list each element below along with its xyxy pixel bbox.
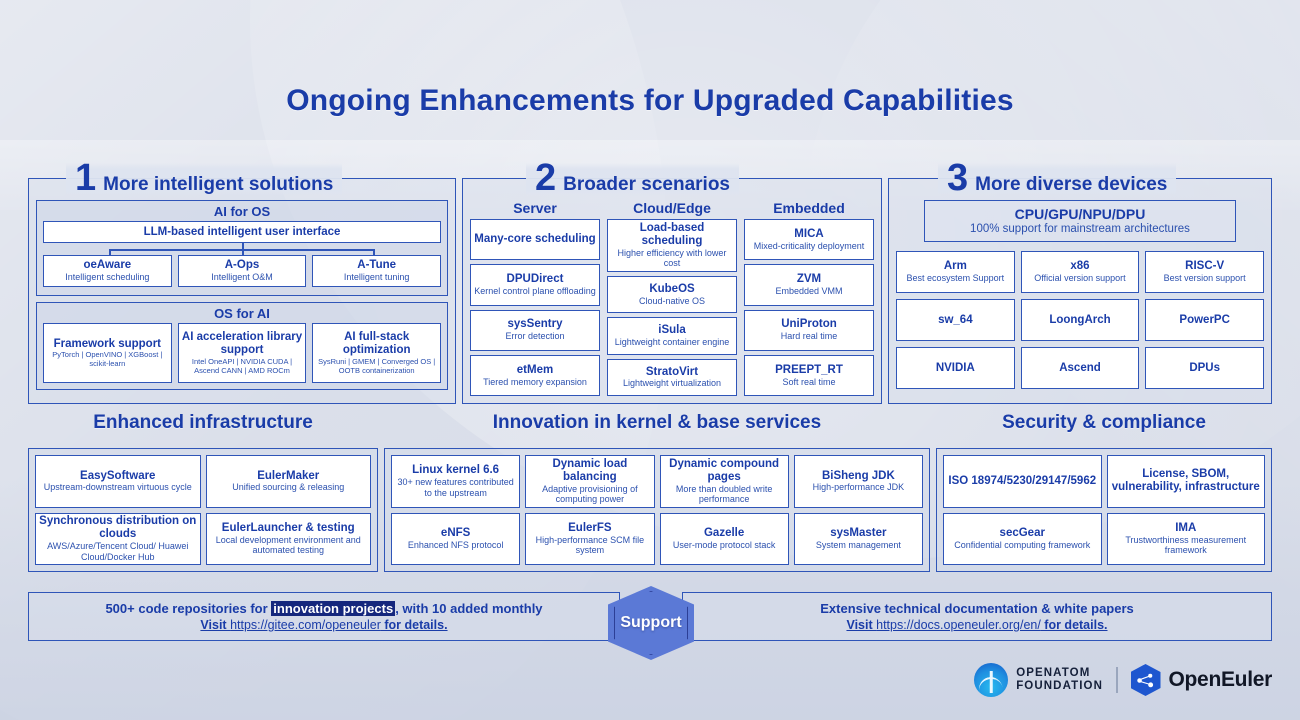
openeuler-logo: OpenEuler [1131,664,1273,696]
column-cloud-edge-head: Cloud/Edge [607,200,737,219]
support-box-repositories: 500+ code repositories for innovation pr… [28,592,620,641]
repositories-headline-pre: 500+ code repositories for [105,601,271,616]
card-title: Linux kernel 6.6 [412,464,499,477]
card-syssentry[interactable]: sysSentry Error detection [470,310,600,351]
card-sysmaster[interactable]: sysMaster System management [794,513,923,566]
card-dynamic-load-balancing[interactable]: Dynamic load balancing Adaptive provisio… [525,455,654,508]
panel-2-number: 2 [535,163,556,194]
card-title: IMA [1175,522,1196,535]
panel-2-body: Server Many-core scheduling DPUDirect Ke… [470,200,874,396]
card-linux-kernel-66[interactable]: Linux kernel 6.6 30+ new features contri… [391,455,520,508]
card-subtitle: 30+ new features contributed to the upst… [395,477,516,498]
connector-drop-right [373,249,375,255]
panel-1-title: More intelligent solutions [103,174,333,196]
card-title: PowerPC [1179,314,1230,327]
card-title: etMem [517,364,553,377]
card-title: Dynamic load balancing [529,458,650,484]
card-gazelle[interactable]: Gazelle User-mode protocol stack [660,513,789,566]
card-subtitle: High-performance JDK [813,482,905,492]
card-subtitle: Official version support [1034,273,1125,283]
documentation-headline: Extensive technical documentation & whit… [820,601,1134,616]
openeuler-hex-icon [1131,664,1161,696]
card-title: sysMaster [830,527,886,540]
card-title: PREEPT_RT [775,364,843,377]
top-panels-row: 1 More intelligent solutions AI for OS L… [0,178,1300,404]
card-title: secGear [1000,527,1045,540]
card-arm[interactable]: Arm Best ecosystem Support [896,251,1015,293]
card-title: DPUDirect [507,273,564,286]
card-powerpc[interactable]: PowerPC [1145,299,1264,341]
card-subtitle: Intelligent tuning [344,272,410,282]
card-title: ZVM [797,273,821,286]
tree-connector [43,243,441,255]
card-subtitle: Mixed-criticality deployment [754,241,865,251]
card-uniproton[interactable]: UniProton Hard real time [744,310,874,351]
card-subtitle: Intel OneAPI | NVIDIA CUDA | Ascend CANN… [182,357,303,375]
card-many-core-scheduling[interactable]: Many-core scheduling [470,219,600,260]
card-synchronous-distribution-on-clouds[interactable]: Synchronous distribution on clouds AWS/A… [35,513,201,566]
card-subtitle: AWS/Azure/Tencent Cloud/ Huawei Cloud/Do… [39,541,197,562]
card-subtitle: Hard real time [781,331,838,341]
card-dynamic-compound-pages[interactable]: Dynamic compound pages More than doubled… [660,455,789,508]
card-subtitle: Error detection [505,331,564,341]
card-title: LoongArch [1049,314,1110,327]
card-subtitle: Adaptive provisioning of computing power [529,484,650,505]
card-title: Framework support [54,338,161,351]
card-subtitle: Lightweight container engine [615,337,730,347]
group-os-for-ai-title: OS for AI [37,303,447,323]
card-eulerlauncher-testing[interactable]: EulerLauncher & testing Local developmen… [206,513,372,566]
card-title: AI acceleration library support [182,331,303,357]
card-title: sysSentry [508,318,563,331]
openatom-foundation-logo: OPENATOM FOUNDATION [974,663,1103,697]
card-eulermaker[interactable]: EulerMaker Unified sourcing & releasing [206,455,372,508]
card-title: KubeOS [649,283,694,296]
innovation-kernel-grid: Linux kernel 6.6 30+ new features contri… [391,455,923,565]
card-title: Ascend [1059,362,1101,375]
card-title: iSula [658,324,685,337]
card-enfs[interactable]: eNFS Enhanced NFS protocol [391,513,520,566]
device-grid: Arm Best ecosystem Support x86 Official … [896,251,1264,389]
card-title: sw_64 [938,314,973,327]
card-load-based-scheduling[interactable]: Load-based scheduling Higher efficiency … [607,219,737,272]
card-title: DPUs [1189,362,1220,375]
panel-2-header: 2 Broader scenarios [526,163,739,196]
card-subtitle: High-performance SCM file system [529,535,650,556]
card-title: EulerLauncher & testing [222,522,355,535]
security-compliance-grid: ISO 18974/5230/29147/5962 License, SBOM,… [943,455,1265,565]
card-mica[interactable]: MICA Mixed-criticality deployment [744,219,874,260]
column-server-head: Server [470,200,600,219]
card-easysoftware[interactable]: EasySoftware Upstream-downstream virtuou… [35,455,201,508]
card-title: x86 [1070,260,1089,273]
ai-for-os-cards: oeAware Intelligent scheduling A-Ops Int… [43,255,441,287]
card-subtitle: Best ecosystem Support [907,273,1005,283]
section-title-innovation-kernel: Innovation in kernel & base services [384,412,930,434]
column-embedded: Embedded MICA Mixed-criticality deployme… [744,200,874,396]
card-title: Many-core scheduling [474,233,595,246]
card-ascend[interactable]: Ascend [1021,347,1140,389]
section-title-enhanced-infrastructure: Enhanced infrastructure [28,412,378,434]
card-title: StratoVirt [646,366,698,379]
card-a-ops[interactable]: A-Ops Intelligent O&M [178,255,307,287]
card-subtitle: Trustworthiness measurement framework [1111,535,1262,556]
panel-1-body: AI for OS LLM-based intelligent user int… [36,200,448,396]
openatom-wordmark: OPENATOM FOUNDATION [1016,667,1103,693]
for-details-label: for details. [381,618,448,632]
repositories-headline-post: , with 10 added monthly [395,601,542,616]
card-sw-64[interactable]: sw_64 [896,299,1015,341]
card-ai-full-stack-optimization[interactable]: AI full-stack optimization SysRuni | GME… [312,323,441,383]
card-subtitle: Unified sourcing & releasing [232,482,344,492]
card-title: ISO 18974/5230/29147/5962 [948,475,1096,488]
card-ima[interactable]: IMA Trustworthiness measurement framewor… [1107,513,1266,566]
card-subtitle: Soft real time [782,377,835,387]
card-subtitle: Confidential computing framework [954,540,1090,550]
card-subtitle: Cloud-native OS [639,296,705,306]
card-dpus[interactable]: DPUs [1145,347,1264,389]
card-bisheng-jdk[interactable]: BiSheng JDK High-performance JDK [794,455,923,508]
card-nvidia[interactable]: NVIDIA [896,347,1015,389]
card-title: NVIDIA [936,362,975,375]
card-title: EasySoftware [80,470,155,483]
card-title: RISC-V [1185,260,1224,273]
card-etmem[interactable]: etMem Tiered memory expansion [470,355,600,396]
card-loongarch[interactable]: LoongArch [1021,299,1140,341]
card-a-tune[interactable]: A-Tune Intelligent tuning [312,255,441,287]
openatom-line2: FOUNDATION [1016,680,1103,693]
card-title: UniProton [781,318,837,331]
column-embedded-head: Embedded [744,200,874,219]
card-preept-rt[interactable]: PREEPT_RT Soft real time [744,355,874,396]
support-row: 500+ code repositories for innovation pr… [0,592,1300,664]
card-ai-acceleration-library-support[interactable]: AI acceleration library support Intel On… [178,323,307,383]
card-title: eNFS [441,527,470,540]
card-license-sbom-vulnerability[interactable]: License, SBOM, vulnerability, infrastruc… [1107,455,1266,508]
banner-title: CPU/GPU/NPU/DPU [929,206,1231,222]
group-os-for-ai: OS for AI Framework support PyTorch | Op… [36,302,448,390]
enhanced-infrastructure-grid: EasySoftware Upstream-downstream virtuou… [35,455,371,565]
card-title: A-Ops [225,259,260,272]
card-iso-standards[interactable]: ISO 18974/5230/29147/5962 [943,455,1102,508]
footer-logos: OPENATOM FOUNDATION OpenEuler [974,663,1272,697]
cpu-gpu-npu-dpu-banner[interactable]: CPU/GPU/NPU/DPU 100% support for mainstr… [924,200,1236,242]
panel-enhanced-infrastructure: EasySoftware Upstream-downstream virtuou… [28,448,378,572]
documentation-visit-line: Visit https://docs.openeuler.org/en/ for… [846,618,1107,632]
card-subtitle: PyTorch | OpenVINO | XGBoost | scikit-le… [47,350,168,368]
innovation-projects-highlight[interactable]: innovation projects [271,601,395,616]
connector-horizontal [109,249,375,251]
middle-sections-row: Enhanced infrastructure EasySoftware Ups… [0,412,1300,584]
column-cloud-edge: Cloud/Edge Load-based scheduling Higher … [607,200,737,396]
banner-subtitle: 100% support for mainstream architecture… [929,223,1231,235]
card-framework-support[interactable]: Framework support PyTorch | OpenVINO | X… [43,323,172,383]
card-title: Gazelle [704,527,744,540]
card-title: License, SBOM, vulnerability, infrastruc… [1111,468,1262,494]
card-title: EulerMaker [257,470,319,483]
panel-2-title: Broader scenarios [563,174,730,196]
column-server: Server Many-core scheduling DPUDirect Ke… [470,200,600,396]
card-subtitle: System management [816,540,901,550]
card-oeaware[interactable]: oeAware Intelligent scheduling [43,255,172,287]
card-title: BiSheng JDK [822,470,895,483]
openatom-line1: OPENATOM [1016,667,1103,680]
card-subtitle: Embedded VMM [775,286,842,296]
panel-innovation-kernel: Linux kernel 6.6 30+ new features contri… [384,448,930,572]
card-secgear[interactable]: secGear Confidential computing framework [943,513,1102,566]
card-title: AI full-stack optimization [316,331,437,357]
section-title-security-compliance: Security & compliance [936,412,1272,434]
panel-3-header: 3 More diverse devices [938,163,1176,196]
llm-user-interface-bar[interactable]: LLM-based intelligent user interface [43,221,441,243]
card-subtitle: Lightweight virtualization [623,378,721,388]
connector-drop-left [109,249,111,255]
logo-divider [1116,667,1118,693]
os-for-ai-cards: Framework support PyTorch | OpenVINO | X… [43,323,441,383]
card-subtitle: SysRuni | GMEM | Converged OS | OOTB con… [316,357,437,375]
card-title: Dynamic compound pages [664,458,785,484]
repositories-headline: 500+ code repositories for innovation pr… [105,601,542,616]
card-title: Synchronous distribution on clouds [39,515,197,541]
panel-security-compliance: ISO 18974/5230/29147/5962 License, SBOM,… [936,448,1272,572]
card-dpudirect[interactable]: DPUDirect Kernel control plane offloadin… [470,264,600,305]
card-title: Arm [944,260,967,273]
gitee-link[interactable]: https://gitee.com/openeuler [230,618,381,632]
repositories-visit-line: Visit https://gitee.com/openeuler for de… [200,618,447,632]
card-subtitle: Higher efficiency with lower cost [611,248,733,269]
group-ai-for-os: AI for OS LLM-based intelligent user int… [36,200,448,296]
card-subtitle: Upstream-downstream virtuous cycle [44,482,192,492]
card-subtitle: Intelligent O&M [211,272,273,282]
visit-label: Visit [846,618,876,632]
openeuler-node-glyph [1136,671,1155,690]
panel-more-diverse-devices: 3 More diverse devices CPU/GPU/NPU/DPU 1… [888,178,1272,404]
panel-broader-scenarios: 2 Broader scenarios Server Many-core sch… [462,178,882,404]
card-title: A-Tune [357,259,396,272]
panel-1-number: 1 [75,163,96,194]
panel-3-number: 3 [947,163,968,194]
support-badge-label: Support [620,614,681,632]
card-subtitle: More than doubled write performance [664,484,785,505]
card-subtitle: Kernel control plane offloading [474,286,595,296]
card-subtitle: User-mode protocol stack [673,540,776,550]
card-eulerfs[interactable]: EulerFS High-performance SCM file system [525,513,654,566]
openeuler-wordmark: OpenEuler [1169,668,1273,692]
card-stratovirt[interactable]: StratoVirt Lightweight virtualization [607,359,737,396]
card-x86[interactable]: x86 Official version support [1021,251,1140,293]
card-subtitle: Enhanced NFS protocol [408,540,504,550]
panel-1-header: 1 More intelligent solutions [66,163,342,196]
visit-label: Visit [200,618,230,632]
card-title: MICA [794,228,823,241]
card-kubeos[interactable]: KubeOS Cloud-native OS [607,276,737,313]
panel-3-body: CPU/GPU/NPU/DPU 100% support for mainstr… [896,200,1264,396]
support-box-documentation: Extensive technical documentation & whit… [682,592,1272,641]
panel-3-title: More diverse devices [975,174,1167,196]
docs-link[interactable]: https://docs.openeuler.org/en/ [876,618,1041,632]
card-isula[interactable]: iSula Lightweight container engine [607,317,737,354]
for-details-label: for details. [1041,618,1108,632]
page-title: Ongoing Enhancements for Upgraded Capabi… [0,84,1300,118]
card-title: EulerFS [568,522,611,535]
card-risc-v[interactable]: RISC-V Best version support [1145,251,1264,293]
openatom-icon [974,663,1008,697]
card-subtitle: Intelligent scheduling [65,272,149,282]
card-subtitle: Tiered memory expansion [483,377,587,387]
card-title: oeAware [83,259,131,272]
scenario-columns: Server Many-core scheduling DPUDirect Ke… [470,200,874,396]
card-zvm[interactable]: ZVM Embedded VMM [744,264,874,305]
panel-more-intelligent-solutions: 1 More intelligent solutions AI for OS L… [28,178,456,404]
card-subtitle: Local development environment and automa… [210,535,368,556]
card-subtitle: Best version support [1164,273,1246,283]
card-title: Load-based scheduling [611,222,733,248]
group-ai-for-os-title: AI for OS [37,201,447,221]
